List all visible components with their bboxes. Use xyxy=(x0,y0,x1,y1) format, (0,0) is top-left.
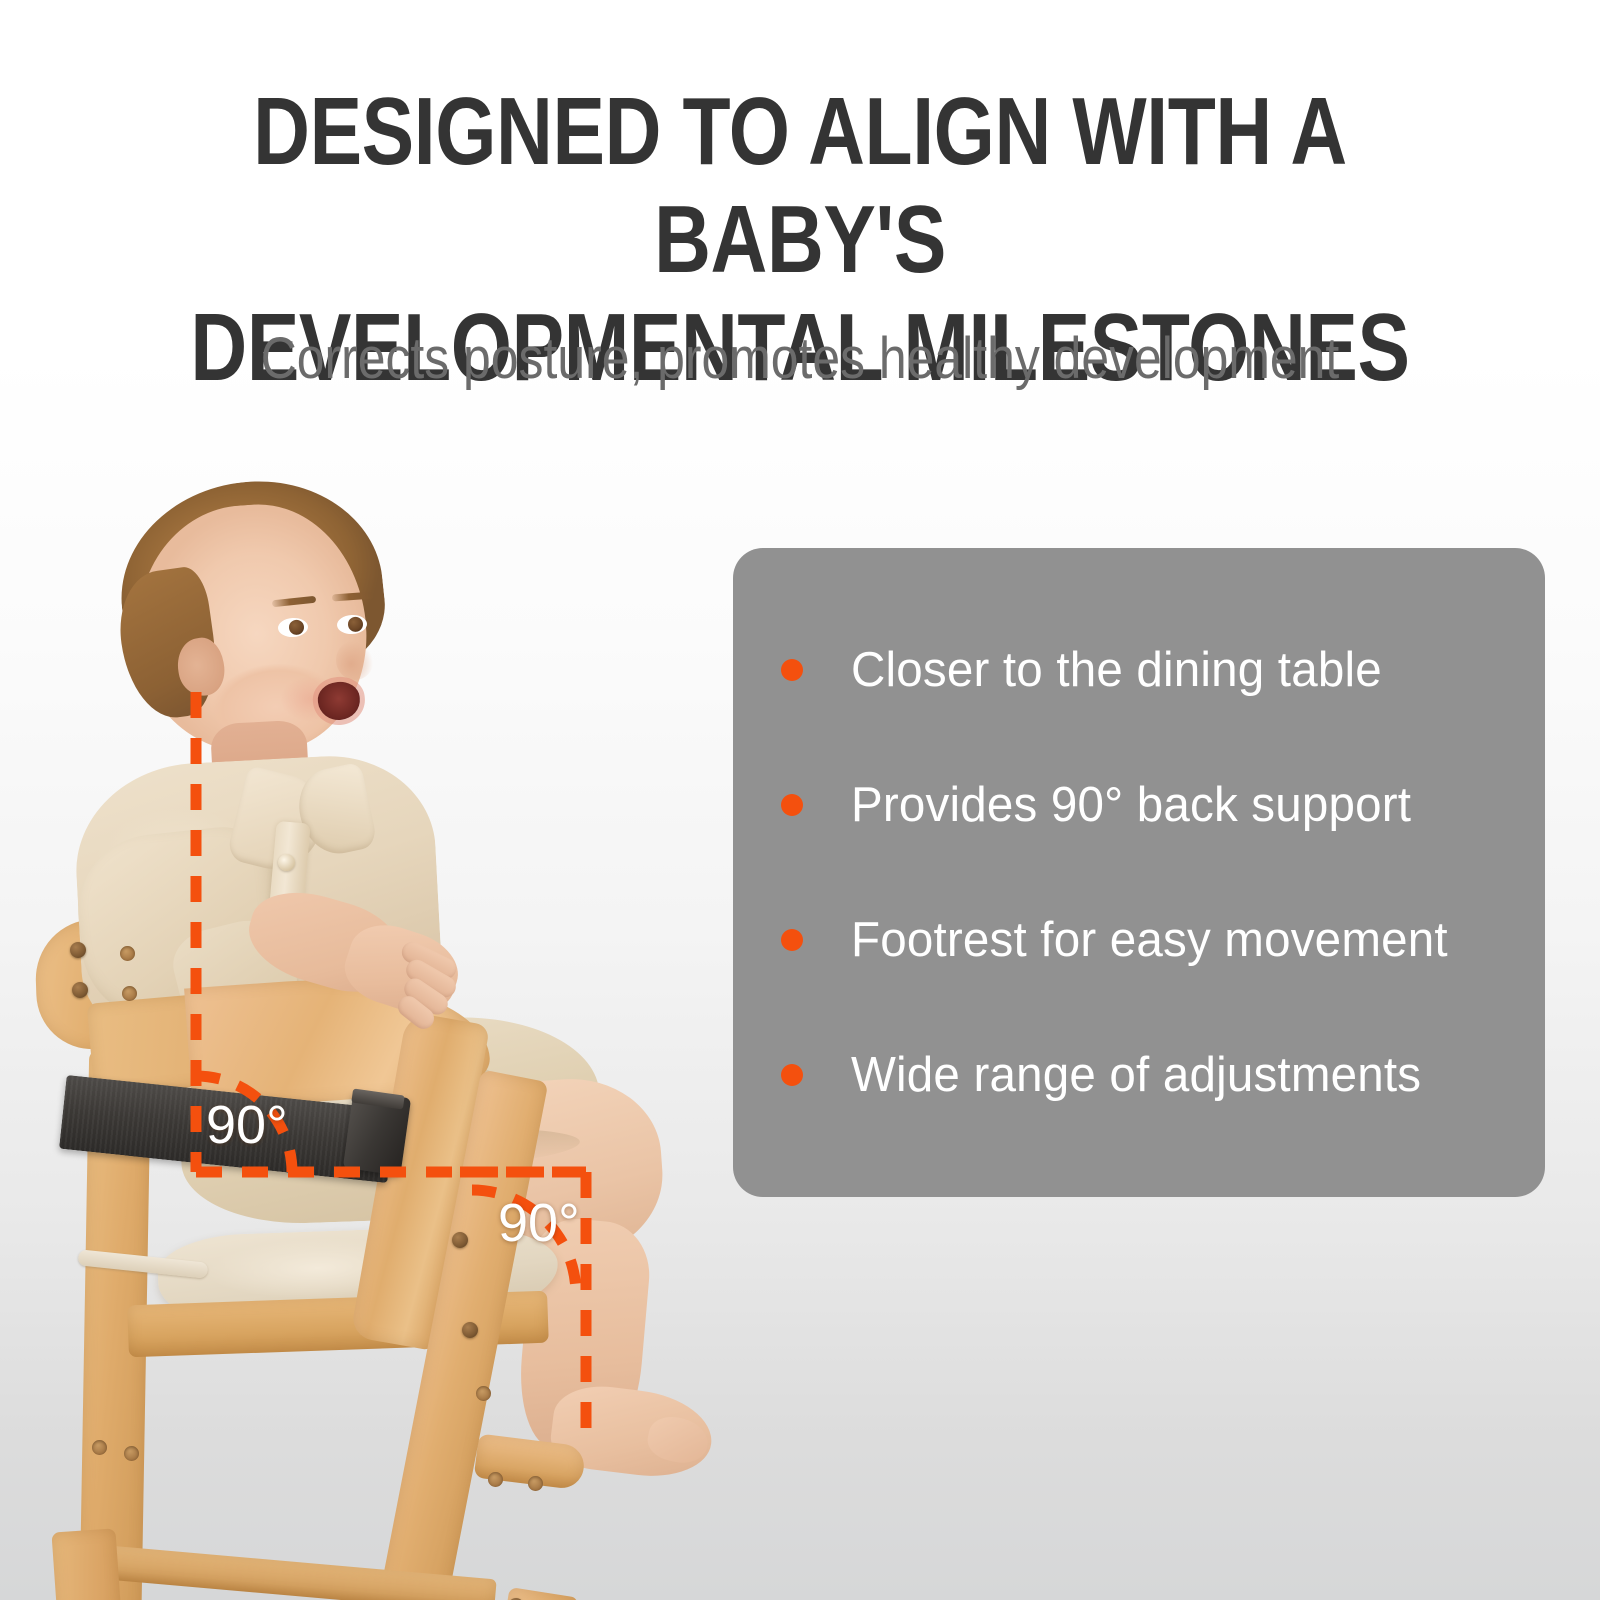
chair-screw xyxy=(462,1322,478,1338)
feature-bullet-label: Footrest for easy movement xyxy=(851,912,1448,968)
chair-adjust-hole xyxy=(92,1440,107,1455)
bullet-dot-icon xyxy=(781,659,803,681)
product-photo: 90° 90° xyxy=(0,430,740,1600)
angle-label-back: 90° xyxy=(206,1098,288,1152)
angle-label-knee: 90° xyxy=(498,1196,580,1250)
chair-adjust-hole xyxy=(476,1386,491,1401)
bullet-dot-icon xyxy=(781,794,803,816)
feature-bullet-row: Wide range of adjustments xyxy=(733,1008,1545,1143)
bullet-dot-icon xyxy=(781,1064,803,1086)
promo-stage: DESIGNED TO ALIGN WITH A BABY'S DEVELOPM… xyxy=(0,0,1600,1600)
chair-screw xyxy=(72,982,88,998)
chair-adjust-hole xyxy=(124,1446,139,1461)
chair-screw xyxy=(70,942,86,958)
child-shirt-button xyxy=(278,854,295,871)
feature-panel: Closer to the dining table Provides 90° … xyxy=(733,548,1545,1197)
feature-bullet-row: Footrest for easy movement xyxy=(733,873,1545,1008)
feature-bullet-label: Closer to the dining table xyxy=(851,642,1382,698)
feature-bullet-row: Closer to the dining table xyxy=(733,603,1545,738)
chair-screw xyxy=(452,1232,468,1248)
feature-bullet-row: Provides 90° back support xyxy=(733,738,1545,873)
chair-adjust-hole xyxy=(120,946,135,961)
chair-adjust-hole xyxy=(122,986,137,1001)
bullet-dot-icon xyxy=(781,929,803,951)
feature-bullet-label: Wide range of adjustments xyxy=(851,1047,1421,1103)
child-nose xyxy=(336,640,374,680)
chair-adjust-hole xyxy=(528,1476,543,1491)
feature-bullet-label: Provides 90° back support xyxy=(851,777,1411,833)
page-subtitle: Corrects posture, promotes healthy devel… xyxy=(112,325,1488,393)
chair-adjust-hole xyxy=(488,1472,503,1487)
